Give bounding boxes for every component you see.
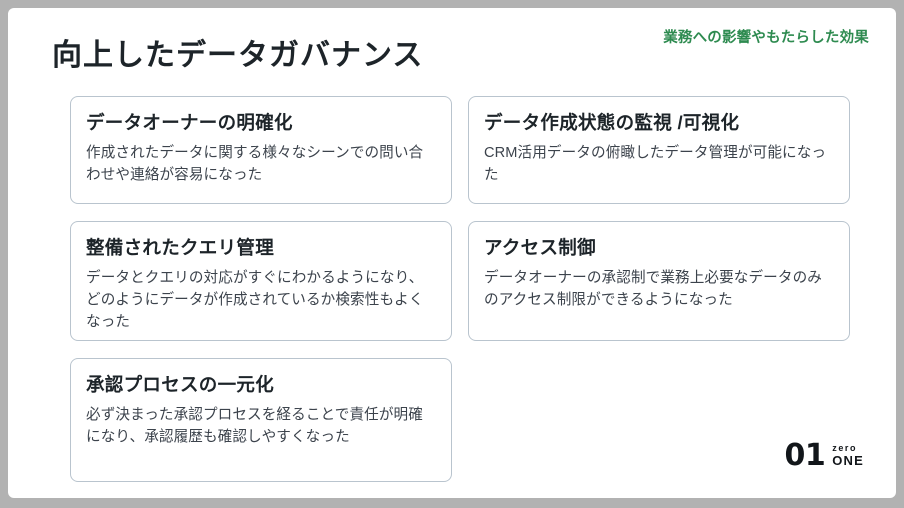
card-body: 必ず決まった承認プロセスを経ることで責任が明確になり、承認履歴も確認しやすくなっ… [86, 404, 436, 448]
card-grid: データオーナーの明確化 作成されたデータに関する様々なシーンでの問い合わせや連絡… [70, 96, 850, 482]
card-title: 整備されたクエリ管理 [86, 234, 436, 260]
card-title: データ作成状態の監視 /可視化 [484, 109, 834, 135]
card-column-left: データオーナーの明確化 作成されたデータに関する様々なシーンでの問い合わせや連絡… [70, 96, 452, 482]
card-query-management: 整備されたクエリ管理 データとクエリの対応がすぐにわかるようになり、どのようにデ… [70, 221, 452, 341]
logo-wordmark: zero ONE [832, 444, 864, 467]
card-title: データオーナーの明確化 [86, 109, 436, 135]
card-column-right: データ作成状態の監視 /可視化 CRM活用データの俯瞰したデータ管理が可能になっ… [468, 96, 850, 482]
card-body: データとクエリの対応がすぐにわかるようになり、どのようにデータが作成されているか… [86, 267, 436, 334]
card-title: アクセス制御 [484, 234, 834, 260]
section-label: 業務への影響やもたらした効果 [663, 26, 869, 47]
logo-mark-01: 01 [784, 441, 825, 471]
card-approval-process-unification: 承認プロセスの一元化 必ず決まった承認プロセスを経ることで責任が明確になり、承認… [70, 358, 452, 482]
card-data-creation-monitoring: データ作成状態の監視 /可視化 CRM活用データの俯瞰したデータ管理が可能になっ… [468, 96, 850, 204]
card-body: 作成されたデータに関する様々なシーンでの問い合わせや連絡が容易になった [86, 142, 436, 186]
slide-canvas: 業務への影響やもたらした効果 向上したデータガバナンス データオーナーの明確化 … [8, 8, 896, 498]
page-title: 向上したデータガバナンス [52, 30, 423, 74]
card-body: データオーナーの承認制で業務上必要なデータのみのアクセス制限ができるようになった [484, 267, 834, 311]
card-body: CRM活用データの俯瞰したデータ管理が可能になった [484, 142, 834, 186]
card-access-control: アクセス制御 データオーナーの承認制で業務上必要なデータのみのアクセス制限ができ… [468, 221, 850, 341]
zero-one-logo: 01 zero ONE [784, 441, 864, 471]
card-data-owner-clarification: データオーナーの明確化 作成されたデータに関する様々なシーンでの問い合わせや連絡… [70, 96, 452, 204]
card-title: 承認プロセスの一元化 [86, 371, 436, 397]
logo-word-one: ONE [832, 454, 864, 468]
card-columns: データオーナーの明確化 作成されたデータに関する様々なシーンでの問い合わせや連絡… [70, 96, 850, 482]
